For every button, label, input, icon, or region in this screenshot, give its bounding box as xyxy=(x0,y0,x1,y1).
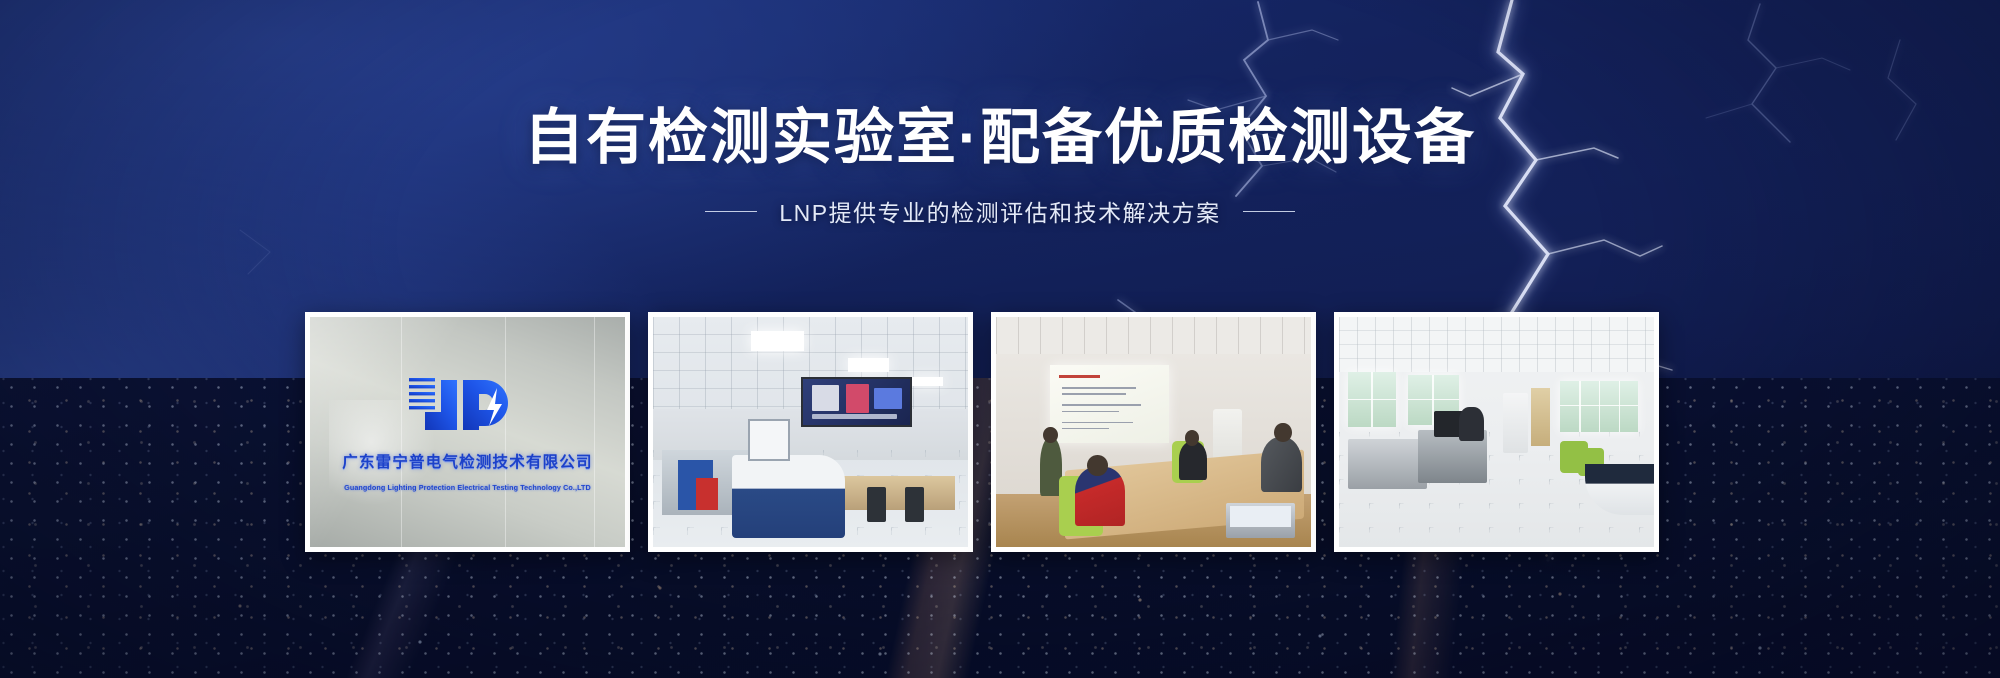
office-window xyxy=(1348,372,1395,427)
office-worker xyxy=(1459,407,1484,442)
glass-seam xyxy=(594,317,595,547)
high-voltage-lab-photo xyxy=(653,317,968,547)
slide-line xyxy=(1062,387,1136,389)
slide-line xyxy=(1062,428,1110,430)
slide-line xyxy=(1062,422,1134,424)
photo-gallery: 广东雷宁普电气检测技术有限公司 Guangdong Lighting Prote… xyxy=(305,312,1659,552)
meeting-room-photo xyxy=(996,317,1311,547)
lab-desk xyxy=(842,476,955,511)
gallery-item-high-voltage-lab[interactable] xyxy=(648,312,973,552)
office-ceiling xyxy=(1339,317,1654,372)
office-desk xyxy=(1348,439,1427,490)
projection-screen xyxy=(1050,365,1170,443)
gallery-item-company-signage[interactable]: 广东雷宁普电气检测技术有限公司 Guangdong Lighting Prote… xyxy=(305,312,630,552)
slide-title-line xyxy=(1059,375,1100,378)
attendee-person xyxy=(1261,437,1302,492)
ceiling-light xyxy=(848,358,889,372)
company-signage-photo: 广东雷宁普电气检测技术有限公司 Guangdong Lighting Prote… xyxy=(310,317,625,547)
headline-block: 自有检测实验室·配备优质检测设备 LNP提供专业的检测评估和技术解决方案 xyxy=(0,0,2000,228)
console-monitor xyxy=(748,419,791,461)
slide-line xyxy=(1062,404,1141,406)
page-title: 自有检测实验室·配备优质检测设备 xyxy=(0,108,2000,168)
hero-banner: 自有检测实验室·配备优质检测设备 LNP提供专业的检测评估和技术解决方案 xyxy=(0,0,2000,678)
lab-chair xyxy=(867,487,886,522)
lab-chair xyxy=(905,487,924,522)
subtitle-row: LNP提供专业的检测评估和技术解决方案 xyxy=(0,194,2000,228)
slide-line xyxy=(1062,411,1119,413)
meeting-ceiling xyxy=(996,317,1311,354)
test-rig-insulator xyxy=(696,478,718,510)
ceiling-light xyxy=(911,377,943,386)
office-shelf xyxy=(1531,388,1550,446)
gallery-item-meeting-room[interactable] xyxy=(991,312,1316,552)
rule-left-icon xyxy=(705,211,757,212)
attendee-head xyxy=(1087,455,1107,476)
rule-right-icon xyxy=(1243,211,1295,212)
office-room-photo xyxy=(1339,317,1654,547)
lnp-logo-icon xyxy=(405,368,531,440)
laptop xyxy=(1226,503,1295,538)
gallery-item-office-room[interactable] xyxy=(1334,312,1659,552)
office-window xyxy=(1560,381,1639,432)
ceiling-light xyxy=(751,331,805,352)
control-console xyxy=(732,455,845,538)
attendee-person xyxy=(1179,441,1207,480)
slide-line xyxy=(1062,393,1127,395)
office-cabinet xyxy=(1503,393,1528,453)
wall-monitor xyxy=(801,377,912,427)
page-subtitle: LNP提供专业的检测评估和技术解决方案 xyxy=(779,194,1220,228)
